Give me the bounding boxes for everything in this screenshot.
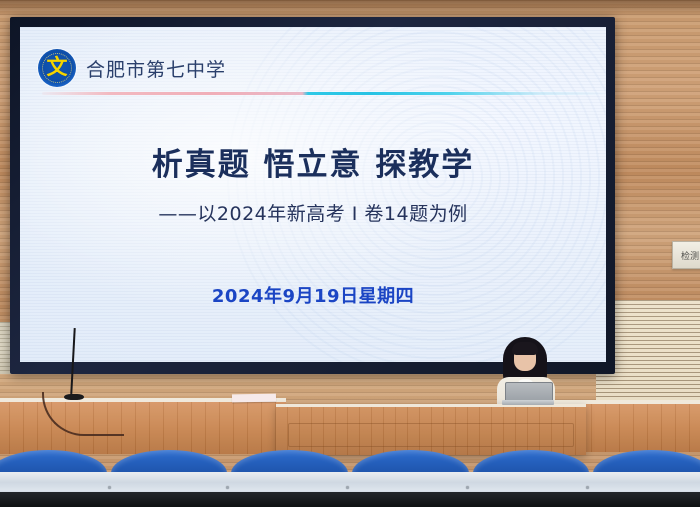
lectern-panel [288, 423, 574, 447]
seat-back-row [0, 450, 700, 474]
classroom-photo: 检测 文 合肥市第七中学 析真题 悟立意 探教学 ——以2024年新高考 I 卷… [0, 0, 700, 507]
desk-screw [466, 486, 469, 489]
open-laptop [502, 382, 554, 405]
slide-title: 析真题 悟立意 探教学 [20, 139, 606, 184]
laptop-keyboard [502, 400, 554, 405]
ceiling-shadow [0, 0, 700, 16]
school-emblem-icon: 文 [38, 49, 76, 87]
presentation-slide: 文 合肥市第七中学 析真题 悟立意 探教学 ——以2024年新高考 I 卷14题… [20, 27, 606, 362]
lectern [276, 404, 586, 455]
header-divider-rule [42, 92, 606, 95]
school-name: 合肥市第七中学 [86, 55, 226, 82]
slide-subtitle: ——以2024年新高考 I 卷14题为例 [20, 199, 606, 226]
presenter-fringe [512, 342, 538, 355]
wall-sign-text: 检测 [681, 249, 699, 262]
desk-screw [346, 486, 349, 489]
foreground-shadow [0, 492, 700, 507]
slide-swirl-decoration [226, 27, 606, 362]
slide-header: 文 合肥市第七中学 [38, 49, 226, 87]
paper-sheet-desk [232, 394, 276, 403]
school-emblem-glyph: 文 [47, 57, 68, 78]
projector-screen-bezel: 文 合肥市第七中学 析真题 悟立意 探教学 ——以2024年新高考 I 卷14题… [10, 17, 615, 374]
projector-screen: 文 合肥市第七中学 析真题 悟立意 探教学 ——以2024年新高考 I 卷14题… [20, 27, 606, 362]
wall-sign: 检测 [672, 241, 700, 269]
slide-date: 2024年9月19日星期四 [20, 282, 606, 308]
desk-screw [108, 486, 111, 489]
desk-screw [226, 486, 229, 489]
desk-screw [586, 486, 589, 489]
